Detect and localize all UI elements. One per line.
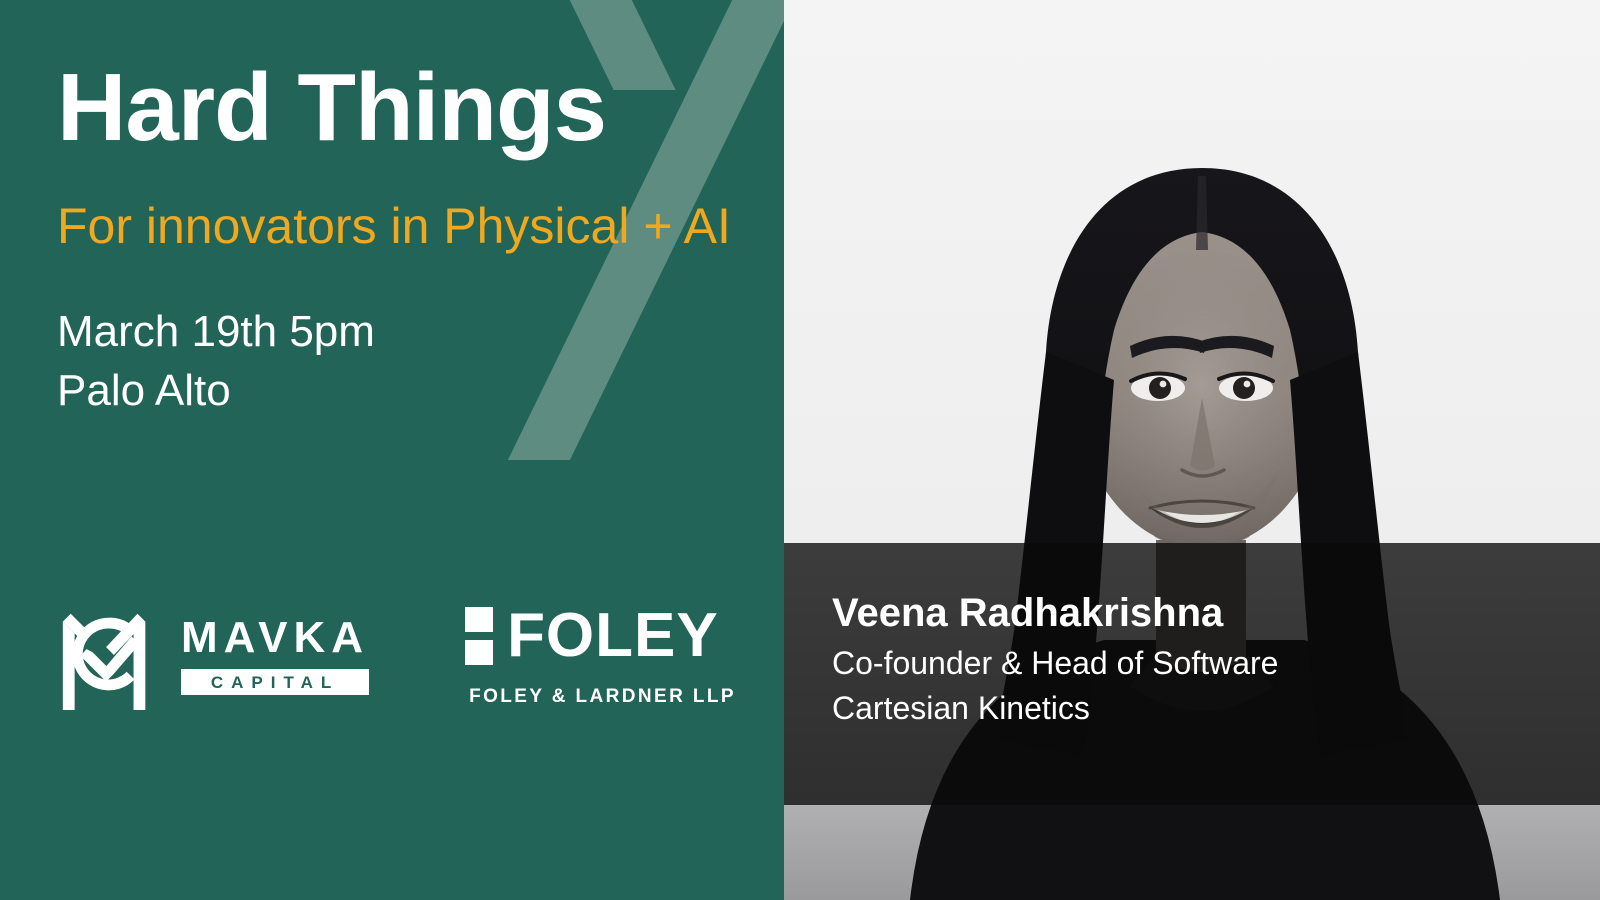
speaker-company: Cartesian Kinetics bbox=[832, 686, 1560, 731]
mavka-name: MAVKA bbox=[181, 616, 369, 660]
mavka-descriptor: CAPITAL bbox=[187, 674, 363, 691]
left-green-panel: Hard Things For innovators in Physical +… bbox=[0, 0, 784, 900]
mavka-capital-logo: MAVKA CAPITAL bbox=[55, 600, 369, 710]
foley-square-top bbox=[465, 607, 493, 632]
event-date: March 19th 5pm bbox=[57, 303, 757, 362]
mavka-monogram-check-icon bbox=[55, 600, 163, 710]
event-title: Hard Things bbox=[57, 58, 757, 159]
foley-square-bottom bbox=[465, 640, 493, 665]
event-location: Palo Alto bbox=[57, 362, 757, 421]
foley-lardner-logo: FOLEY FOLEY & LARDNER LLP bbox=[465, 605, 736, 706]
mavka-capital-bar: CAPITAL bbox=[181, 669, 369, 695]
event-subtitle-text: For innovators in Physical + AI bbox=[57, 198, 731, 254]
speaker-info-banner: Veena Radhakrishna Co-founder & Head of … bbox=[784, 543, 1600, 805]
mavka-wordmark: MAVKA CAPITAL bbox=[181, 616, 369, 695]
event-subtitle: For innovators in Physical + AI bbox=[57, 193, 757, 259]
foley-wordmark: FOLEY bbox=[465, 605, 719, 667]
event-text-block: Hard Things For innovators in Physical +… bbox=[57, 58, 757, 421]
foley-stacked-squares-icon bbox=[465, 607, 493, 665]
sponsor-logo-row: MAVKA CAPITAL FOLEY FOLEY & LARDNER LLP bbox=[55, 600, 736, 710]
foley-tagline: FOLEY & LARDNER LLP bbox=[469, 687, 736, 706]
speaker-role: Co-founder & Head of Software bbox=[832, 641, 1560, 686]
speaker-name: Veena Radhakrishna bbox=[832, 591, 1560, 635]
event-promo-poster: Hard Things For innovators in Physical +… bbox=[0, 0, 1600, 900]
foley-name: FOLEY bbox=[507, 605, 719, 667]
event-datetime-location: March 19th 5pm Palo Alto bbox=[57, 303, 757, 421]
